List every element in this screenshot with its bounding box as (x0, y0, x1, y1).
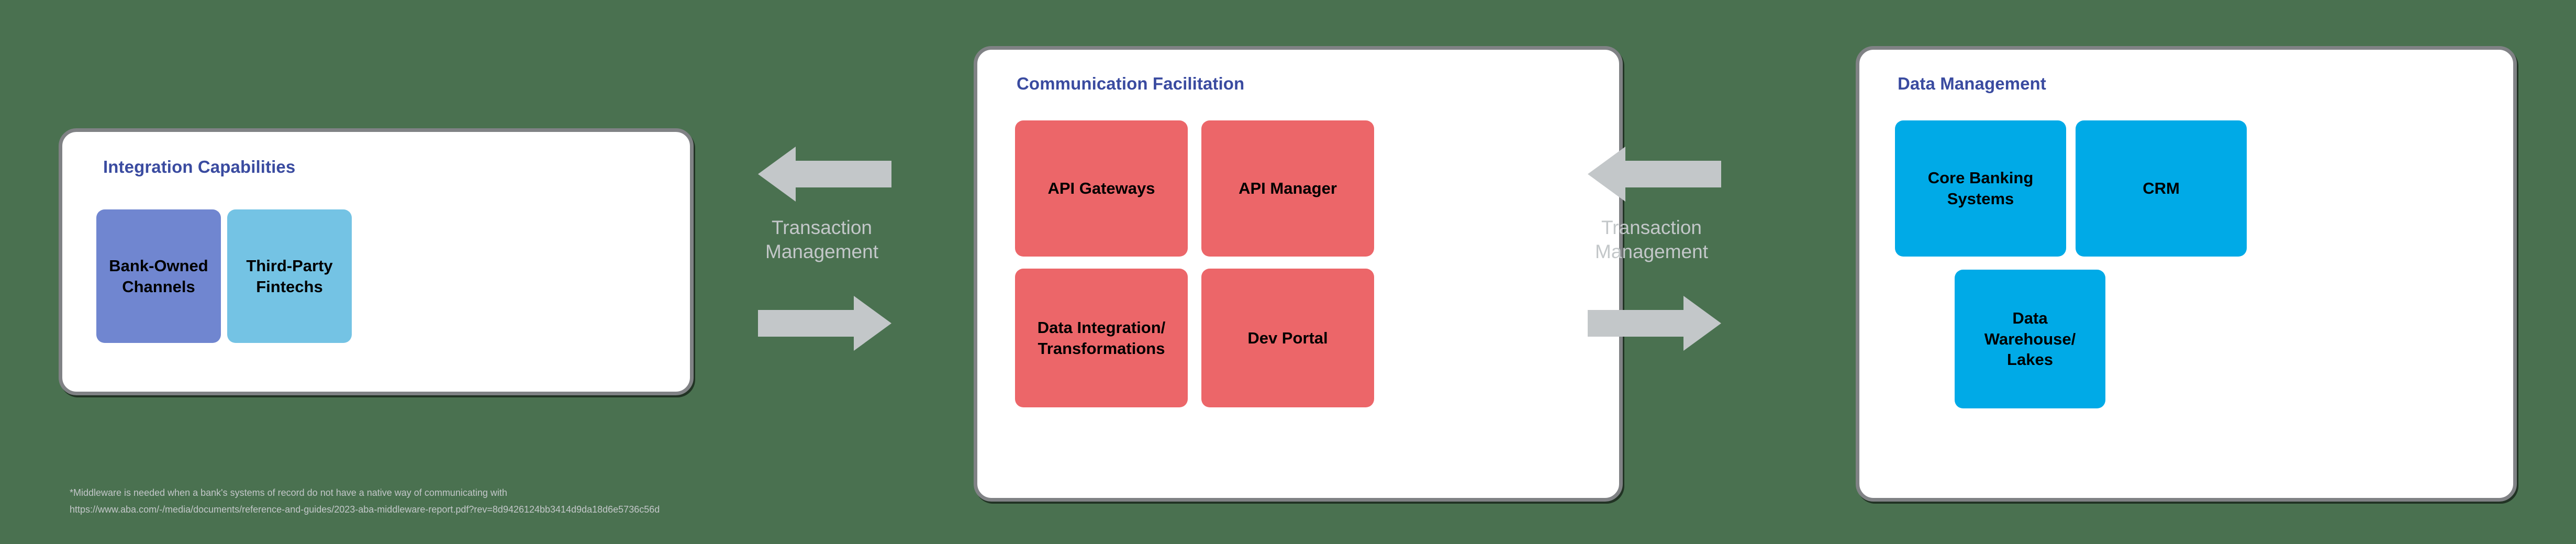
node-label-bank-owned-channels: Bank-Owned Channels (109, 256, 208, 297)
node-data-integration-transformations[interactable]: Data Integration/ Transformations (1015, 269, 1188, 407)
panel-title-integration-capabilities: Integration Capabilities (103, 157, 295, 177)
node-api-manager[interactable]: API Manager (1201, 120, 1374, 257)
node-label-data-integration-transformations: Data Integration/ Transformations (1038, 317, 1166, 359)
panel-integration-capabilities: Integration Capabilities Bank-Owned Chan… (59, 128, 694, 395)
connector-label-right: Transaction Management (1563, 216, 1741, 264)
arrow-left-icon (758, 147, 891, 202)
node-label-data-warehouse-lakes: Data Warehouse/ Lakes (1984, 308, 2076, 370)
arrow-right-icon (758, 296, 891, 351)
connector-right-transaction-management: Transaction Management (1563, 147, 1751, 372)
node-api-gateways[interactable]: API Gateways (1015, 120, 1188, 257)
node-crm[interactable]: CRM (2076, 120, 2247, 257)
node-label-crm: CRM (2143, 178, 2180, 199)
arrow-right-icon (1588, 296, 1721, 351)
diagram-canvas: Integration Capabilities Bank-Owned Chan… (0, 0, 2576, 544)
node-core-banking-systems[interactable]: Core Banking Systems (1895, 120, 2066, 257)
node-data-warehouse-lakes[interactable]: Data Warehouse/ Lakes (1955, 270, 2105, 408)
node-label-third-party-fintechs: Third-Party Fintechs (246, 256, 332, 297)
panel-title-data-management: Data Management (1898, 74, 2046, 94)
node-label-core-banking-systems: Core Banking Systems (1928, 168, 2034, 209)
arrow-left-icon (1588, 147, 1721, 202)
node-third-party-fintechs[interactable]: Third-Party Fintechs (227, 209, 352, 343)
panel-communication-facilitation: Communication Facilitation API Gateways … (974, 46, 1623, 502)
node-label-api-gateways: API Gateways (1047, 178, 1155, 199)
node-dev-portal[interactable]: Dev Portal (1201, 269, 1374, 407)
footnote-line-middleware-note: *Middleware is needed when a bank's syst… (70, 485, 1221, 502)
footnote-line-source-url: https://www.aba.com/-/media/documents/re… (70, 502, 1221, 518)
node-label-api-manager: API Manager (1239, 178, 1337, 199)
footnote: *Middleware is needed when a bank's syst… (70, 485, 1221, 518)
node-label-dev-portal: Dev Portal (1247, 328, 1328, 349)
node-bank-owned-channels[interactable]: Bank-Owned Channels (96, 209, 221, 343)
connector-label-left: Transaction Management (733, 216, 911, 264)
panel-data-management: Data Management Core Banking Systems CRM… (1856, 46, 2517, 502)
panel-title-communication-facilitation: Communication Facilitation (1017, 74, 1244, 94)
connector-left-transaction-management: Transaction Management (733, 147, 921, 372)
